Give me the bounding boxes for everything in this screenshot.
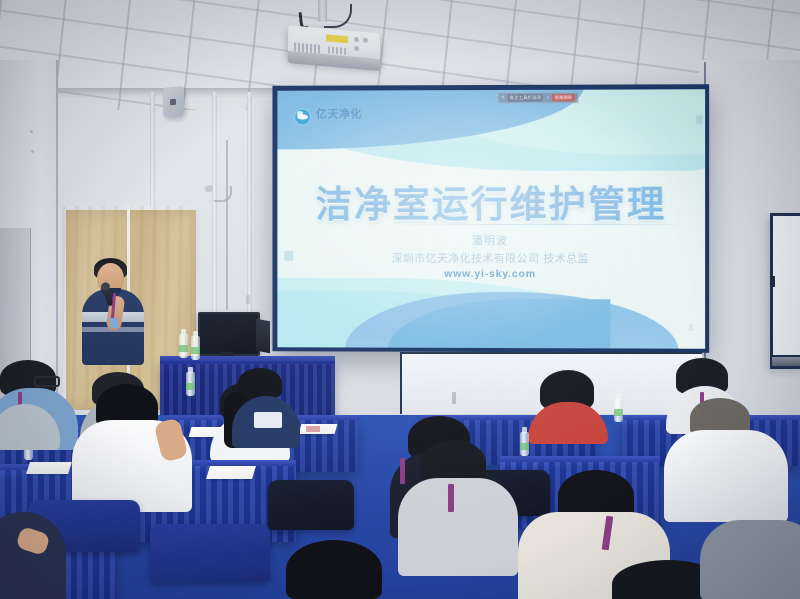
audience-shirt (664, 430, 788, 522)
wall-mark (30, 130, 33, 133)
presenter-badge (110, 318, 118, 328)
water-bottle (614, 398, 623, 422)
paper-tag (306, 426, 320, 432)
ceiling-projector (288, 25, 381, 66)
whiteboard-hook (452, 392, 456, 404)
slide-brand-name-cn: 亿天净化 (316, 108, 362, 119)
presentation-slide: 亿天净化 Esky Purify 洁净室运行维护管理 潘明波 深圳市亿天净化技术… (277, 89, 705, 349)
wall-mark (31, 150, 34, 153)
laptop (256, 319, 270, 353)
audience-chair (150, 524, 270, 582)
circular-droplet-logo-icon (294, 109, 311, 126)
microphone-icon[interactable]: ♫ (546, 95, 549, 101)
slide-brand-name-en: Esky Purify (316, 121, 362, 126)
whiteboard (770, 213, 800, 369)
thin-cable-run (226, 140, 228, 310)
slide-brand-text: 亿天净化 Esky Purify (316, 108, 362, 125)
shirt-graphic (254, 412, 282, 428)
audience-chair (268, 480, 354, 530)
toolbar-label[interactable]: 批注工具栏选项 (508, 94, 543, 101)
projector-vent (328, 46, 346, 55)
water-bottle (191, 336, 200, 360)
audience-hair (286, 540, 382, 599)
wall-switch-plate (246, 295, 250, 304)
whiteboard-clip (770, 276, 775, 287)
projector-button-icon (354, 37, 359, 42)
slide-title: 洁净室运行维护管理 (277, 174, 705, 228)
water-bottle (179, 334, 188, 358)
audience-lanyard (448, 484, 454, 512)
pen-icon[interactable]: ✎ (501, 95, 505, 101)
handout-paper (26, 462, 72, 474)
slide-page-number: 3 (688, 324, 692, 333)
wall-speaker-icon (163, 86, 184, 117)
seminar-room-photo: 亿天净化 Esky Purify 洁净室运行维护管理 潘明波 深圳市亿天净化技术… (0, 0, 800, 599)
slide-website-url: www.yi-sky.com (277, 268, 705, 281)
water-bottle (186, 372, 195, 396)
water-bottle (520, 432, 529, 456)
audience-shirt (398, 478, 518, 576)
glasses-icon (34, 376, 60, 387)
projector-button-icon (354, 46, 359, 51)
audience-shirt (700, 520, 800, 599)
slide-brand-logo: 亿天净化 Esky Purify (294, 108, 362, 125)
audience-lanyard (400, 458, 405, 484)
end-show-button[interactable]: 结束放映 (552, 94, 575, 101)
projector-vent (294, 42, 320, 53)
projection-screen: 亿天净化 Esky Purify 洁净室运行维护管理 潘明波 深圳市亿天净化技术… (272, 84, 709, 353)
slide-affiliation: 深圳市亿天净化技术有限公司 技术总监 (277, 250, 705, 266)
handout-paper (206, 466, 256, 479)
slide-edge-marker-right (696, 115, 703, 124)
projector-button-icon (363, 38, 368, 43)
whiteboard-marker-tray (770, 355, 800, 368)
desktop-monitor (198, 312, 260, 356)
projector-warning-label (326, 34, 348, 43)
slide-title-underline (388, 224, 675, 225)
wall-sensor-icon (205, 185, 213, 192)
presenter-annotation-toolbar[interactable]: ✎ 批注工具栏选项 ♫ 结束放映 (498, 92, 579, 103)
slide-author: 潘明波 (277, 232, 705, 248)
